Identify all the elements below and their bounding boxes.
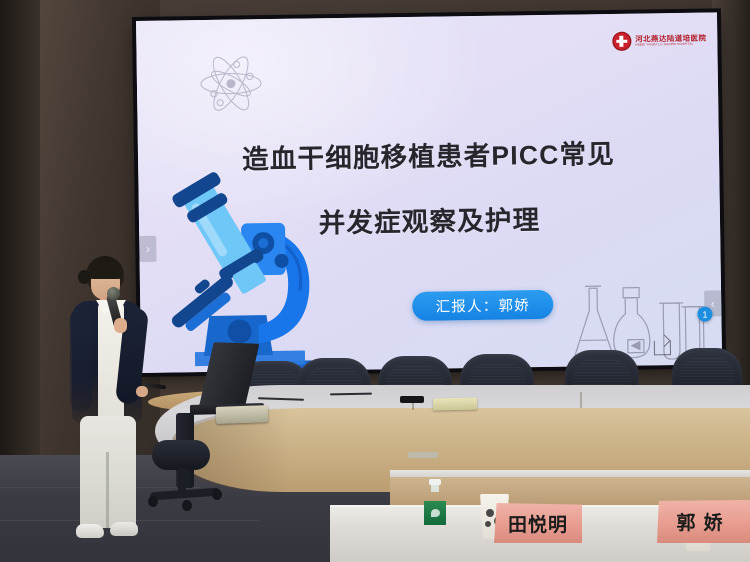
water-bottle — [424, 479, 446, 538]
red-cross-icon — [612, 32, 631, 51]
microscope-icon — [152, 164, 340, 373]
presenter-shoe — [76, 524, 104, 538]
notepad — [433, 397, 477, 410]
projection-screen: 河北燕达陆道培医院 HEBEI YANDA LU DAOPEI HOSPITAL — [136, 12, 722, 373]
chair-wheel — [212, 489, 222, 500]
presenter-label-pill: 汇报人：郭娇 — [412, 290, 553, 321]
table-seam — [580, 392, 582, 408]
atom-icon — [191, 47, 270, 120]
nameplate-label: 郭娇 — [676, 508, 730, 535]
chair-wheel — [182, 500, 192, 511]
nameplate: 郭娇 — [657, 500, 750, 543]
presenter-leg-seam — [106, 452, 109, 528]
desk-microphone — [400, 396, 424, 403]
nameplate: 田悦明 — [494, 503, 582, 543]
hospital-logo: 河北燕达陆道培医院 HEBEI YANDA LU DAOPEI HOSPITAL — [612, 31, 706, 51]
presenter-hand-secondary — [136, 386, 148, 397]
desk-device-box — [216, 405, 269, 424]
presenter-hair-bun — [78, 270, 90, 284]
presenter-shoe — [110, 522, 138, 536]
microphone-head — [107, 287, 120, 300]
table-cable-port — [408, 452, 438, 458]
presenter — [58, 256, 154, 544]
office-chair-seat — [152, 440, 210, 470]
presenter-hand — [114, 318, 127, 333]
screenshot-root: 河北燕达陆道培医院 HEBEI YANDA LU DAOPEI HOSPITAL — [0, 0, 750, 562]
hospital-name-en: HEBEI YANDA LU DAOPEI HOSPITAL — [635, 43, 706, 47]
presenter-arm-left — [70, 308, 92, 412]
share-icon[interactable] — [654, 340, 671, 355]
presenter-fringe — [89, 266, 122, 279]
